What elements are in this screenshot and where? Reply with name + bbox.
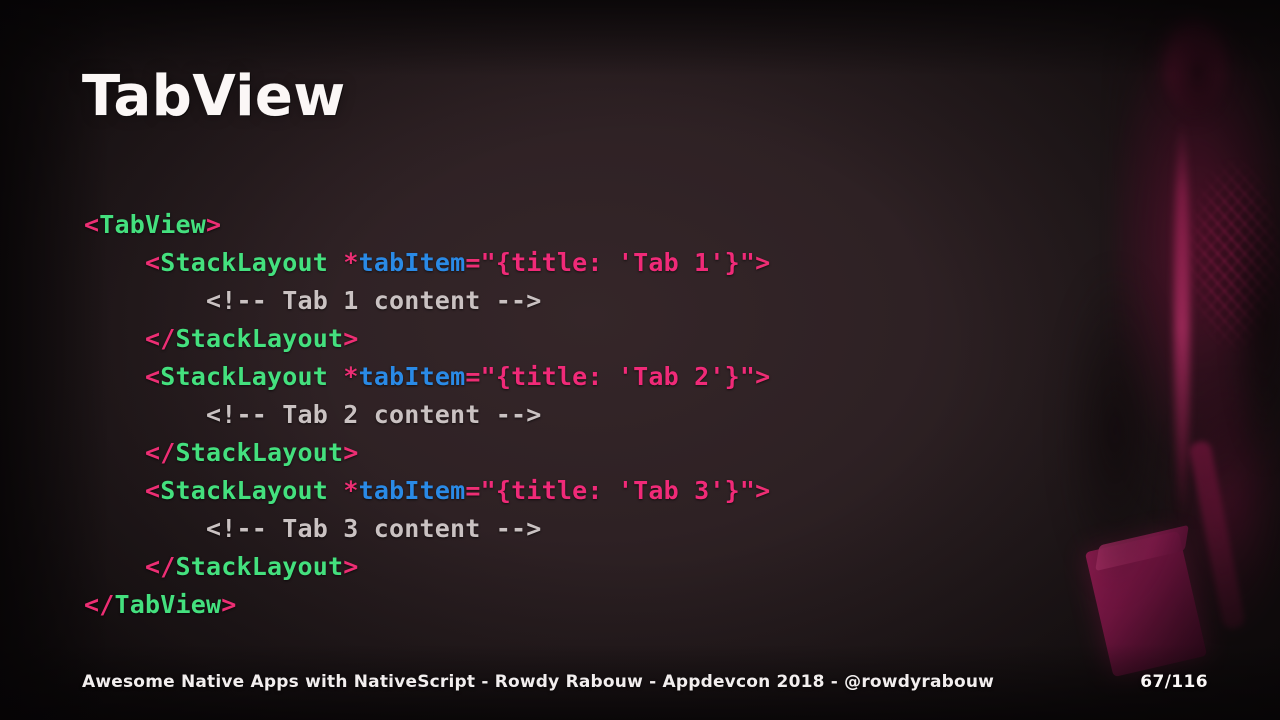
code-token-punct: > <box>343 324 358 353</box>
code-indent <box>84 400 206 429</box>
code-line: <StackLayout *tabItem="{title: 'Tab 2'}"… <box>84 358 770 396</box>
code-token-tag: StackLayout <box>176 438 344 467</box>
code-token-plain <box>328 248 343 277</box>
code-token-attr: tabItem <box>359 362 466 391</box>
code-token-comment: <!-- Tab 2 content --> <box>206 400 542 429</box>
code-line: </StackLayout> <box>84 434 770 472</box>
code-token-attr: tabItem <box>359 248 466 277</box>
code-token-plain <box>328 362 343 391</box>
code-token-punct: > <box>206 210 221 239</box>
code-token-comment: <!-- Tab 1 content --> <box>206 286 542 315</box>
code-token-punct: > <box>221 590 236 619</box>
code-token-tag: TabView <box>115 590 222 619</box>
code-indent <box>84 362 145 391</box>
code-token-tag: StackLayout <box>176 324 344 353</box>
code-token-punct: < <box>145 362 160 391</box>
code-token-string: "{title: 'Tab 2'}" <box>481 362 756 391</box>
code-line: </StackLayout> <box>84 320 770 358</box>
code-indent <box>84 286 206 315</box>
code-token-comment: <!-- Tab 3 content --> <box>206 514 542 543</box>
code-line: <StackLayout *tabItem="{title: 'Tab 3'}"… <box>84 472 770 510</box>
code-indent <box>84 552 145 581</box>
code-token-star: * <box>343 362 358 391</box>
code-snippet: <TabView> <StackLayout *tabItem="{title:… <box>84 206 770 624</box>
code-token-tag: StackLayout <box>160 476 328 505</box>
code-token-string: "{title: 'Tab 1'}" <box>481 248 756 277</box>
code-token-punct: </ <box>145 438 176 467</box>
footer-credit: Awesome Native Apps with NativeScript - … <box>82 672 994 692</box>
code-token-punct: </ <box>84 590 115 619</box>
code-token-punct: > <box>755 248 770 277</box>
code-line: <!-- Tab 1 content --> <box>84 282 770 320</box>
code-token-attr: tabItem <box>359 476 466 505</box>
code-token-punct: > <box>343 552 358 581</box>
code-indent <box>84 248 145 277</box>
code-token-punct: </ <box>145 324 176 353</box>
code-token-tag: TabView <box>99 210 206 239</box>
code-token-star: * <box>343 476 358 505</box>
code-line: <!-- Tab 3 content --> <box>84 510 770 548</box>
code-token-eq: = <box>465 476 480 505</box>
code-token-plain <box>328 476 343 505</box>
code-token-punct: > <box>755 476 770 505</box>
code-line: <!-- Tab 2 content --> <box>84 396 770 434</box>
code-token-punct: > <box>755 362 770 391</box>
code-indent <box>84 514 206 543</box>
code-token-punct: < <box>84 210 99 239</box>
code-token-punct: < <box>145 476 160 505</box>
code-token-star: * <box>343 248 358 277</box>
page-number: 67/116 <box>1140 672 1208 692</box>
code-line: </TabView> <box>84 586 770 624</box>
code-token-tag: StackLayout <box>160 248 328 277</box>
slide-content: TabView <TabView> <StackLayout *tabItem=… <box>0 0 1280 720</box>
code-token-eq: = <box>465 248 480 277</box>
code-token-tag: StackLayout <box>176 552 344 581</box>
code-token-punct: < <box>145 248 160 277</box>
presentation-slide: TabView <TabView> <StackLayout *tabItem=… <box>0 0 1280 720</box>
code-token-punct: </ <box>145 552 176 581</box>
code-token-punct: > <box>343 438 358 467</box>
code-line: </StackLayout> <box>84 548 770 586</box>
code-line: <TabView> <box>84 206 770 244</box>
code-token-tag: StackLayout <box>160 362 328 391</box>
code-token-string: "{title: 'Tab 3'}" <box>481 476 756 505</box>
code-line: <StackLayout *tabItem="{title: 'Tab 1'}"… <box>84 244 770 282</box>
page-title: TabView <box>82 64 346 129</box>
code-indent <box>84 324 145 353</box>
code-indent <box>84 438 145 467</box>
code-indent <box>84 476 145 505</box>
code-token-eq: = <box>465 362 480 391</box>
